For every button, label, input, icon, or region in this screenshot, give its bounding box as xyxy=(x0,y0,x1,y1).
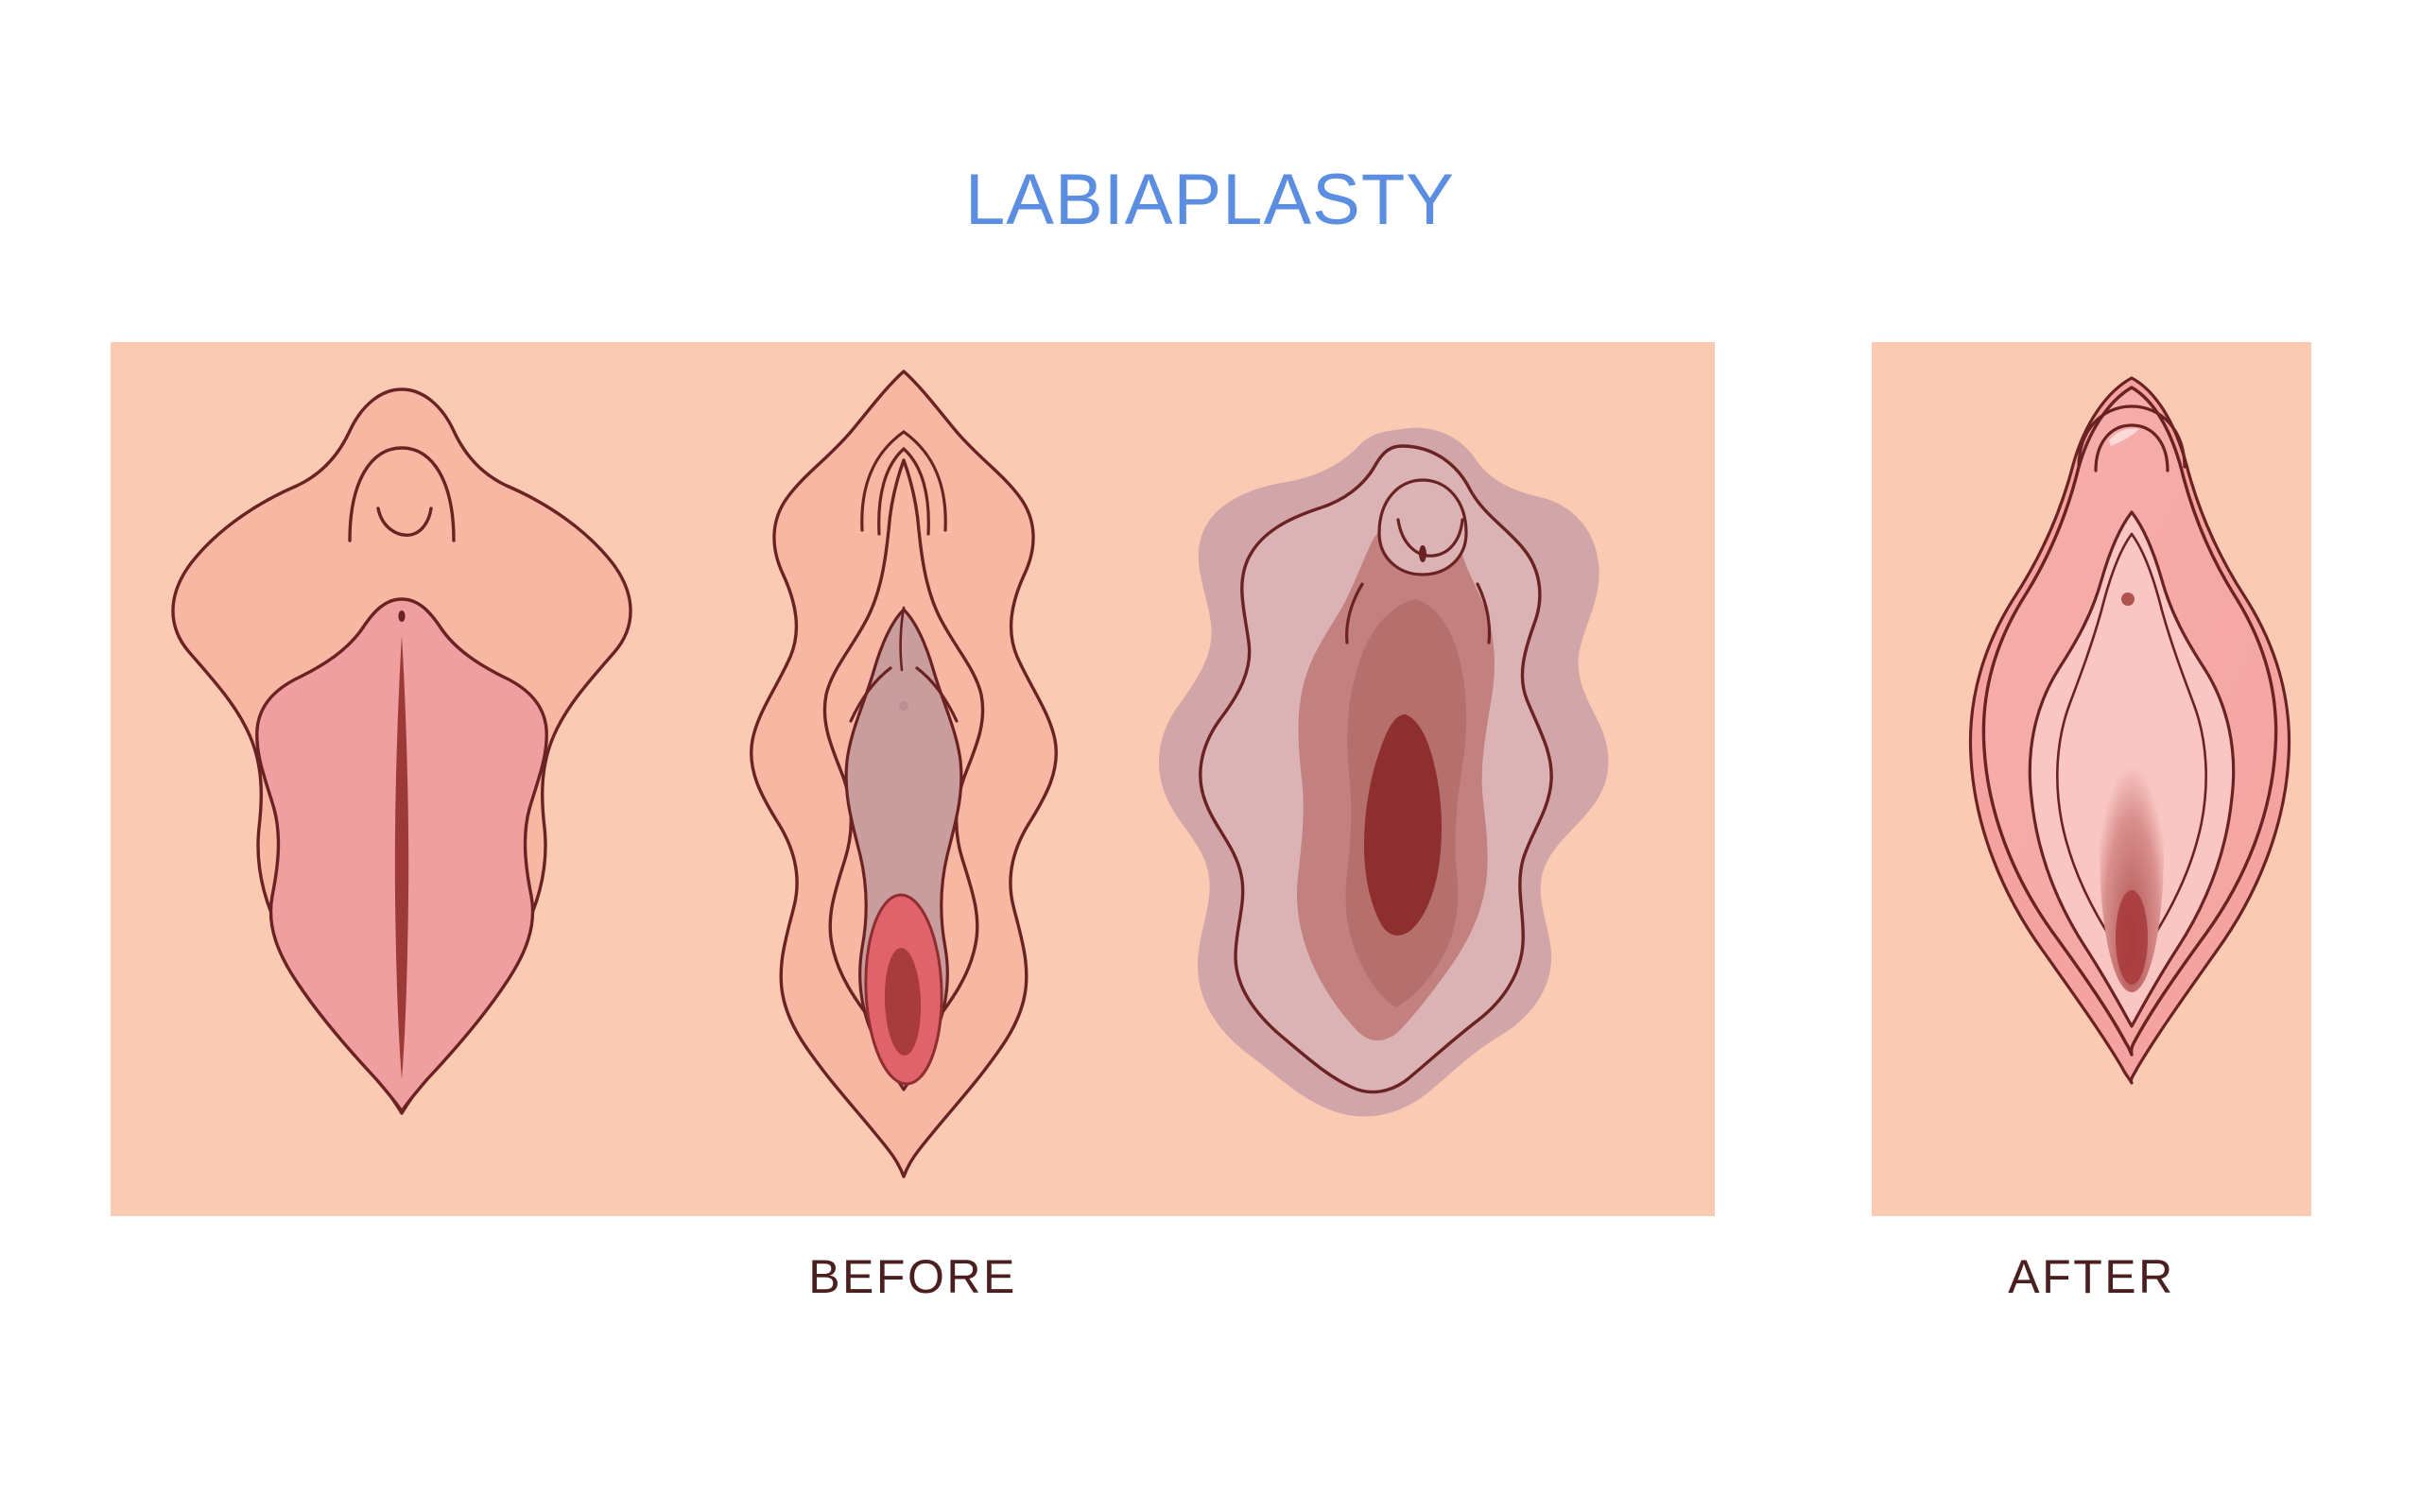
urethral-opening-dot xyxy=(1419,545,1426,562)
figure-vulva-diamond-wide xyxy=(170,369,633,1191)
urethral-opening-dot xyxy=(899,701,908,711)
figure-vulva-postoperative xyxy=(1952,350,2311,1191)
illustration-canvas: LABIAPLASTY xyxy=(0,0,2420,1512)
vaginal-opening-core xyxy=(2116,890,2148,985)
caption-before: BEFORE xyxy=(111,1249,1715,1304)
figure-vulva-wavy-elongated xyxy=(718,354,1087,1195)
urethral-opening-dot xyxy=(398,610,405,622)
page-title: LABIAPLASTY xyxy=(0,159,2420,241)
urethral-opening-dot xyxy=(2121,593,2135,606)
caption-after: AFTER xyxy=(1872,1249,2311,1304)
figure-vulva-hypertrophic xyxy=(1149,416,1631,1172)
